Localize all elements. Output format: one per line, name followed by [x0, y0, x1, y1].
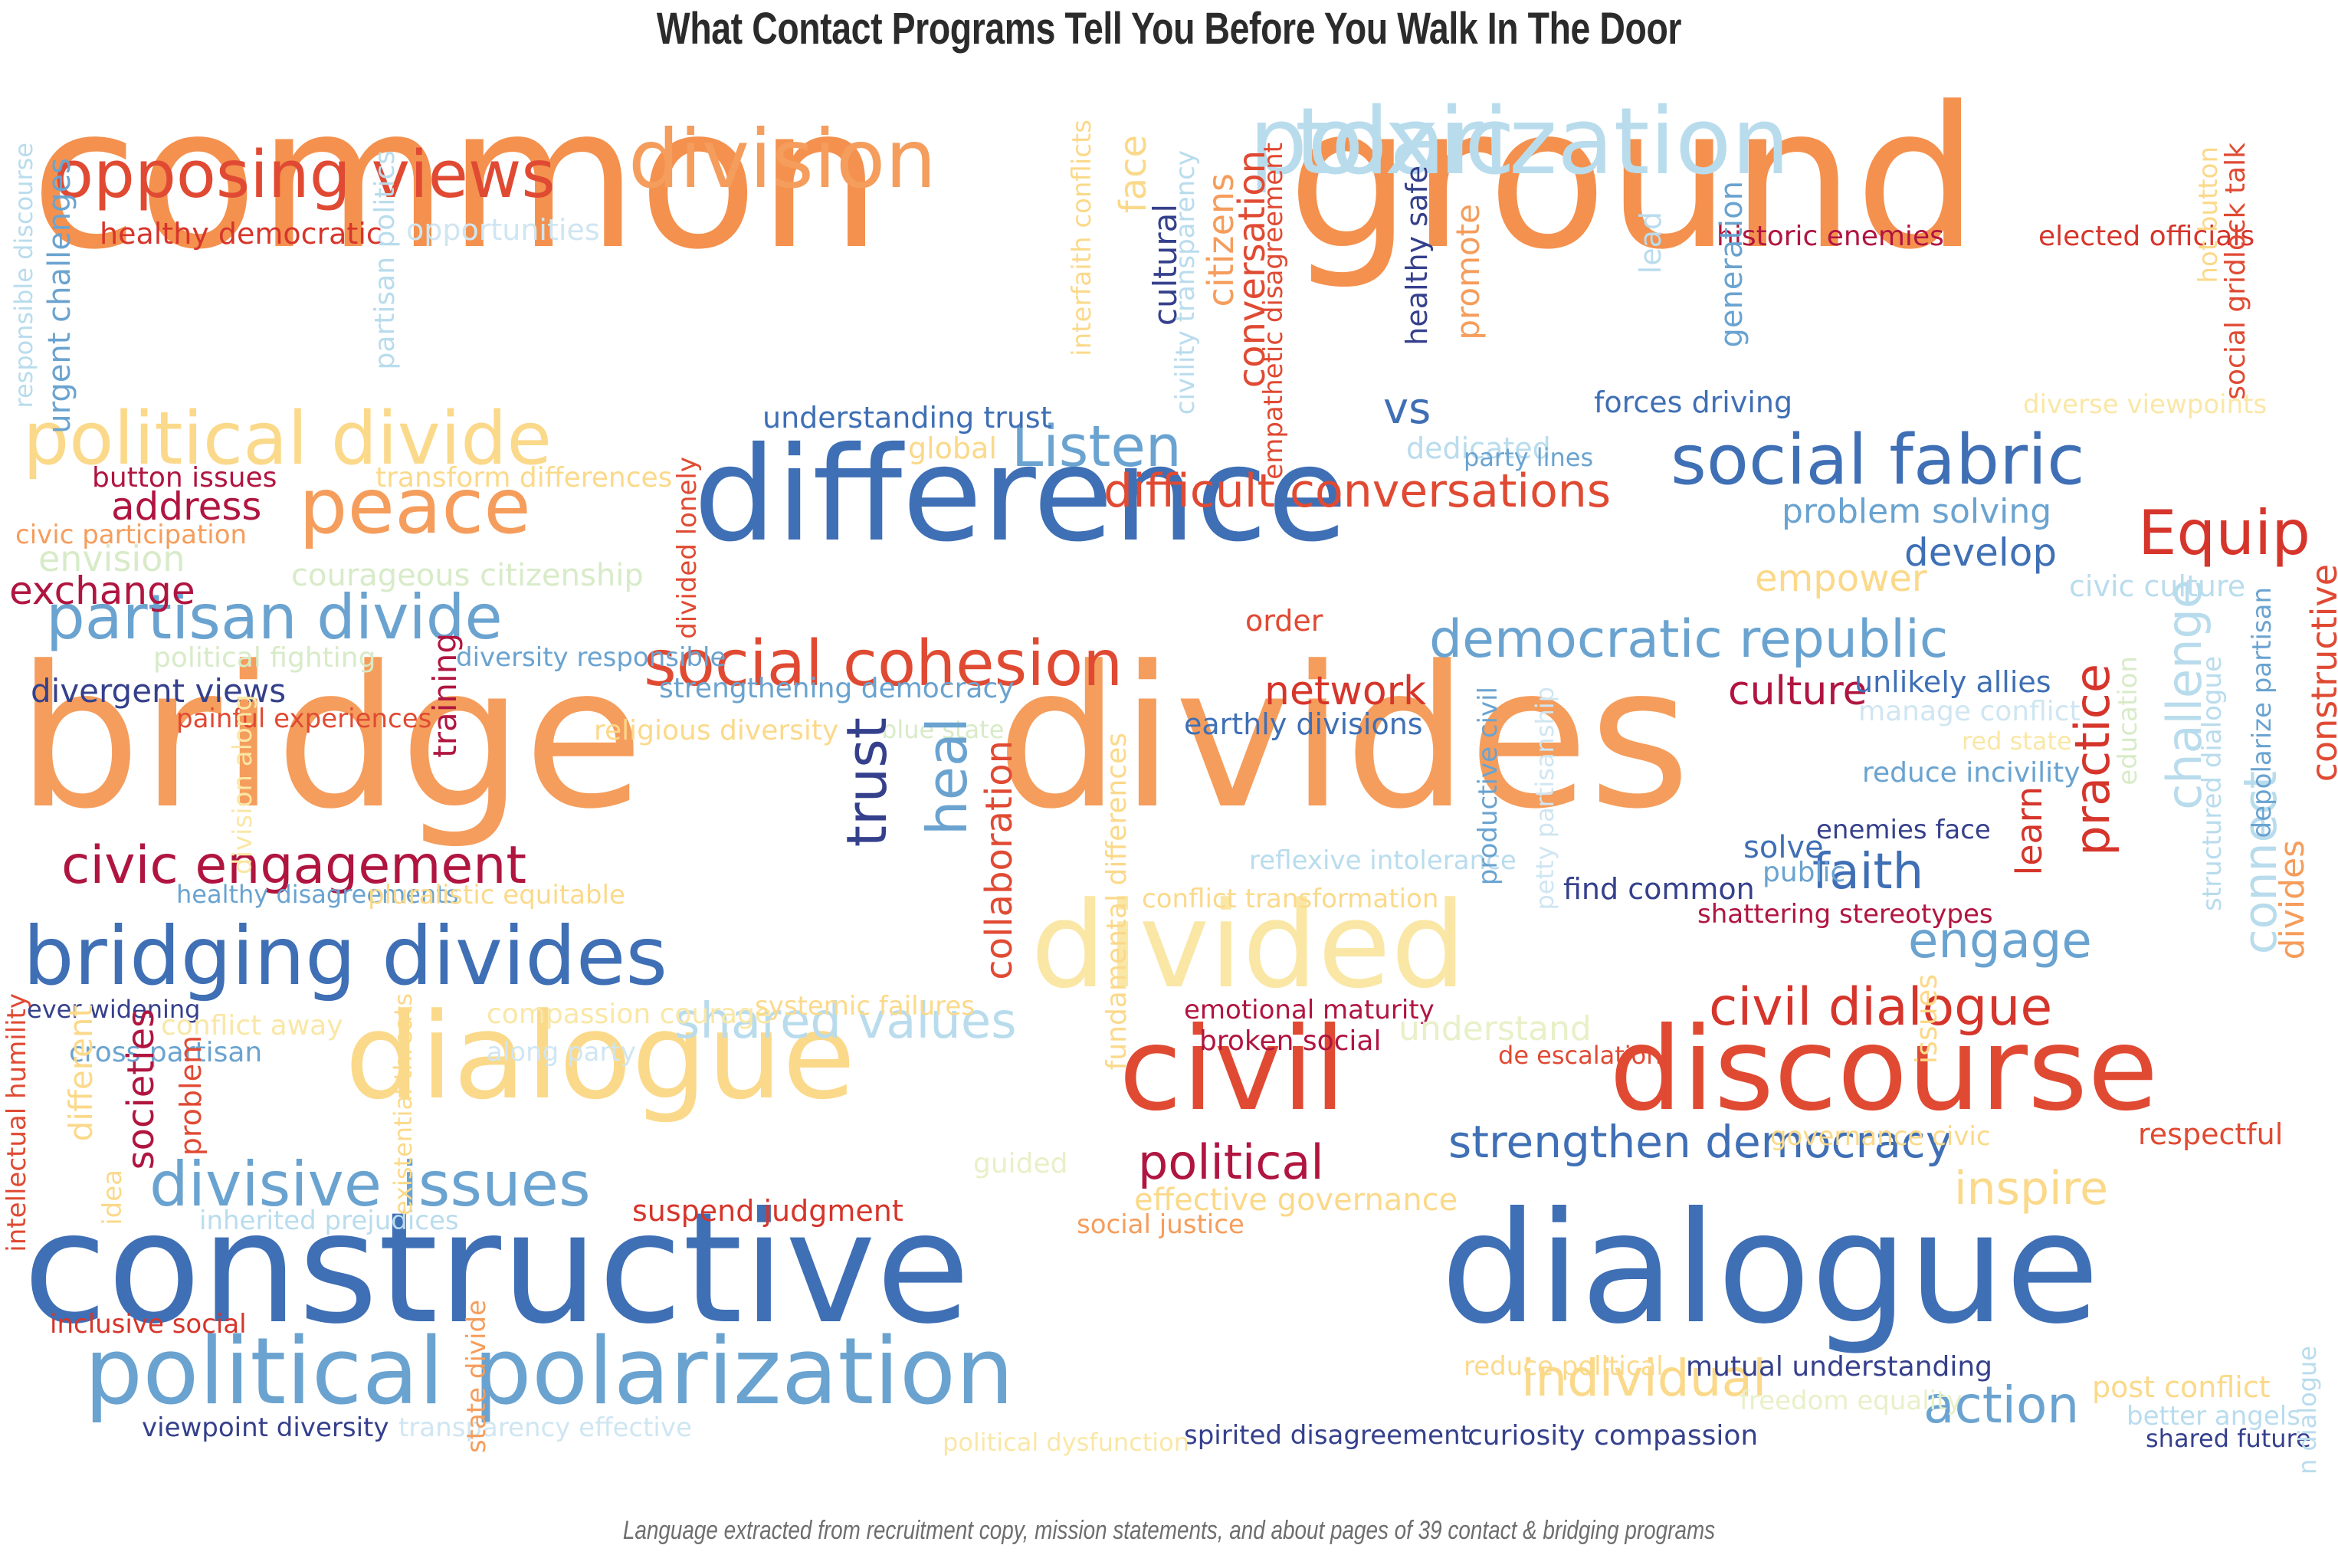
- cloud-word: intellectual humility: [4, 993, 30, 1252]
- cloud-word: along party: [487, 1039, 636, 1065]
- cloud-word: transparency effective: [398, 1415, 692, 1441]
- cloud-word: empathetic disagreement: [1261, 143, 1287, 480]
- cloud-word: structured dialogue: [2199, 656, 2225, 911]
- cloud-word: divides: [2276, 840, 2310, 959]
- cloud-word: post conflict: [2092, 1373, 2271, 1402]
- cloud-word: political: [1138, 1139, 1324, 1186]
- cloud-word: order: [1245, 606, 1323, 635]
- cloud-word: painful experiences: [176, 706, 431, 732]
- cloud-word: healthy democratic: [100, 219, 382, 248]
- cloud-word: social gridlock talk: [2222, 143, 2250, 400]
- cloud-word: petty partisanship: [1533, 687, 1557, 910]
- cloud-word: red state: [1962, 729, 2072, 753]
- cloud-word: public: [1763, 859, 1845, 887]
- cloud-word: societies: [123, 1009, 159, 1169]
- cloud-word: systemic failures: [755, 993, 975, 1019]
- cloud-word: compassion courage: [487, 1001, 772, 1028]
- cloud-word: shattering stereotypes: [1697, 901, 1993, 927]
- cloud-word: existential threats: [391, 993, 415, 1215]
- cloud-word: strengthening democracy: [659, 675, 1015, 703]
- cloud-word: inherited prejudices: [199, 1208, 459, 1234]
- cloud-word: hot button: [2195, 146, 2222, 284]
- cloud-word: political dysfunction: [943, 1430, 1189, 1455]
- cloud-word: bipartisan dialogue: [2295, 1346, 2320, 1476]
- cloud-word: conflict transformation: [1142, 886, 1438, 912]
- cloud-word: pluralistic equitable: [368, 882, 625, 908]
- cloud-word: guided: [973, 1150, 1068, 1178]
- cloud-word: Equip: [2138, 503, 2310, 564]
- cloud-word: heal: [920, 717, 975, 835]
- cloud-word: network: [1264, 671, 1426, 711]
- cloud-word: emotional maturity: [1184, 997, 1435, 1023]
- cloud-word: opportunities: [406, 215, 600, 244]
- cloud-word: political fighting: [153, 645, 375, 672]
- cloud-word: social fabric: [1671, 426, 2085, 495]
- cloud-word: forces driving: [1594, 388, 1792, 417]
- cloud-word: face: [1115, 135, 1152, 213]
- cloud-word: freedom equality: [1740, 1388, 1963, 1414]
- cloud-word: depolarize partisan: [2249, 587, 2275, 838]
- cloud-word: different: [65, 1005, 97, 1141]
- cloud-word: shared future: [2146, 1426, 2311, 1451]
- cloud-word: productive civil: [1475, 687, 1501, 885]
- cloud-word: reduce incivility: [1862, 759, 2081, 787]
- cloud-word: suspend judgment: [632, 1196, 903, 1225]
- cloud-word: culture: [1728, 671, 1867, 711]
- cloud-word: manage conflict: [1858, 698, 2081, 726]
- cloud-word: civil dialogue: [1709, 982, 2052, 1034]
- cloud-word: transform differences: [375, 464, 672, 492]
- cloud-word: divided lonely: [674, 457, 700, 639]
- cloud-word: curiosity compassion: [1467, 1422, 1758, 1450]
- cloud-word: earthly divisions: [1184, 710, 1423, 739]
- cloud-word: state divide: [464, 1300, 490, 1453]
- cloud-word: practice: [2069, 664, 2117, 856]
- cloud-word: democratic republic: [1429, 614, 1948, 666]
- cloud-word: education: [2115, 656, 2141, 786]
- cloud-word: interfaith conflicts: [1069, 120, 1095, 356]
- wordcloud-page: What Contact Programs Tell You Before Yo…: [0, 0, 2338, 1568]
- cloud-word: constructive: [2307, 564, 2338, 782]
- cloud-word: trust: [839, 717, 894, 847]
- cloud-word: understanding trust: [762, 403, 1052, 432]
- cloud-word: social justice: [1077, 1212, 1244, 1238]
- cloud-word: urgent challenges: [44, 158, 75, 434]
- cloud-word: global: [908, 434, 997, 463]
- cloud-word: religious diversity: [594, 717, 838, 745]
- cloud-word: de escalation: [1498, 1043, 1662, 1068]
- cloud-word: collaboration: [981, 740, 1018, 980]
- cloud-word: mutual understanding: [1686, 1353, 1992, 1381]
- cloud-word: partisan politics: [372, 150, 399, 369]
- cloud-word: political polarization: [84, 1327, 1014, 1419]
- cloud-word: empower: [1755, 560, 1927, 597]
- cloud-word: division: [628, 120, 936, 200]
- cloud-word: problem: [176, 1035, 205, 1156]
- cloud-word: party lines: [1464, 445, 1593, 470]
- cloud-word: broken social: [1199, 1028, 1382, 1055]
- cloud-word: dialogue: [1441, 1192, 2100, 1346]
- cloud-word: lead: [1636, 212, 1665, 274]
- cloud-word: inspire: [1954, 1166, 2108, 1212]
- cloud-word: vs: [1383, 388, 1431, 431]
- cloud-word: generation: [1717, 181, 1747, 348]
- cloud-word: respectful: [2138, 1120, 2283, 1149]
- cloud-word: diversity responsible: [456, 645, 726, 671]
- cloud-word: courageous citizenship: [291, 560, 644, 591]
- cloud-word: promote: [1452, 204, 1484, 340]
- cloud-word: responsible discourse: [11, 143, 36, 408]
- figure-caption: Language extracted from recruitment copy…: [211, 1516, 2128, 1546]
- cloud-word: division along: [230, 694, 256, 874]
- cloud-word: historic enemies: [1717, 223, 1944, 251]
- cloud-word: governance civic: [1770, 1124, 1991, 1150]
- cloud-word: idea: [100, 1169, 126, 1225]
- cloud-word: reduce political: [1464, 1353, 1664, 1379]
- cloud-word: issues: [1912, 974, 1941, 1064]
- cloud-word: spirited disagreement: [1184, 1422, 1471, 1448]
- cloud-word: enemies face: [1816, 817, 1991, 843]
- cloud-word: training: [429, 633, 461, 758]
- cloud-word: problem solving: [1782, 495, 2051, 529]
- page-title: What Contact Programs Tell You Before Yo…: [234, 3, 2104, 54]
- cloud-word: button issues: [92, 464, 277, 492]
- cloud-word: healthy safe: [1402, 166, 1431, 346]
- cloud-word: viewpoint diversity: [142, 1415, 389, 1441]
- cloud-word: fundamental differences: [1103, 733, 1131, 1070]
- cloud-word: civic participation: [15, 522, 247, 548]
- cloud-word: unlikely allies: [1854, 668, 2051, 697]
- cloud-word: civility transparency: [1172, 150, 1199, 415]
- wordcloud-canvas: commongroundbridgedividesconstructivedia…: [0, 51, 2338, 1476]
- cloud-word: opposing views: [54, 143, 556, 208]
- cloud-word: bridging divides: [23, 917, 667, 997]
- cloud-word: inclusive social: [50, 1311, 247, 1337]
- cloud-word: learn: [2012, 786, 2047, 876]
